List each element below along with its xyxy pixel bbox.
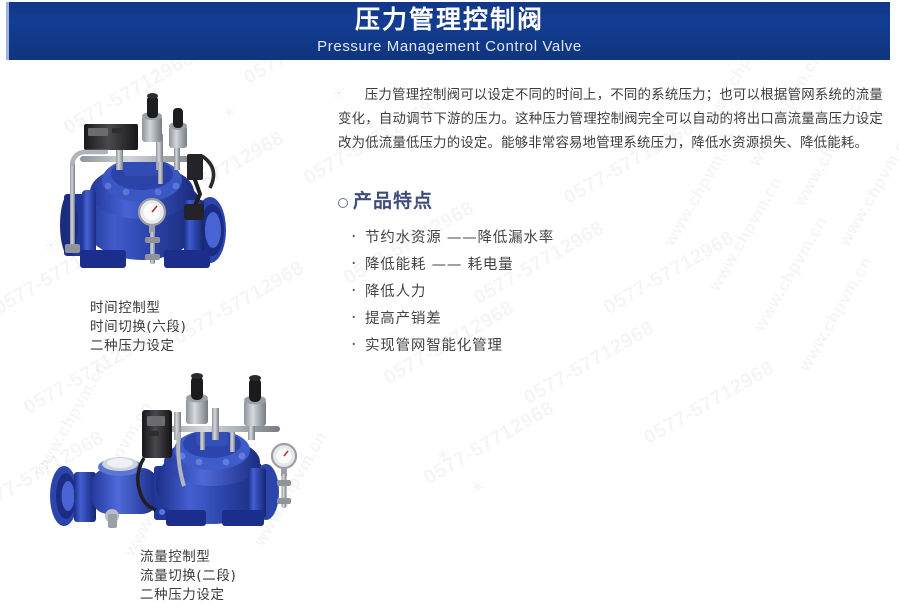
product-features-block: 产品特点 节约水资源 ——降低漏水率 降低能耗 —— 耗电量 降低人力 提高产销… bbox=[338, 186, 883, 360]
feature-list: 节约水资源 ——降低漏水率 降低能耗 —— 耗电量 降低人力 提高产销差 实现管… bbox=[338, 225, 883, 360]
caption-line: 二种压力设定 bbox=[90, 337, 324, 356]
caption-line: 流量控制型 bbox=[140, 548, 336, 567]
content-column: 压力管理控制阀可以设定不同的时间上，不同的系统压力；也可以根据管网系统的流量变化… bbox=[338, 84, 883, 360]
product-brochure-page: 0577-57712968 0577-57712968 0577-5771296… bbox=[0, 0, 899, 610]
features-heading: 产品特点 bbox=[338, 186, 883, 213]
figure-flow-controlled-valve: 流量控制型 流量切换(二段) 二种压力设定 bbox=[16, 368, 336, 605]
intro-paragraph: 压力管理控制阀可以设定不同的时间上，不同的系统压力；也可以根据管网系统的流量变化… bbox=[338, 84, 883, 156]
watermark-star-icon: ✳ bbox=[470, 478, 484, 498]
page-title-cn: 压力管理控制阀 bbox=[355, 7, 544, 33]
caption-line: 时间控制型 bbox=[90, 299, 324, 318]
feature-list-item: 降低人力 bbox=[351, 279, 883, 306]
figure-caption-flow-controlled: 流量控制型 流量切换(二段) 二种压力设定 bbox=[16, 548, 336, 605]
watermark-star-icon: ✳ bbox=[436, 446, 450, 466]
caption-line: 时间切换(六段) bbox=[90, 318, 324, 337]
feature-list-item: 实现管网智能化管理 bbox=[351, 333, 883, 360]
features-heading-label: 产品特点 bbox=[353, 186, 433, 213]
watermark-phone: 0577-57712968 bbox=[640, 357, 778, 450]
valve-illustration-time bbox=[24, 82, 324, 297]
caption-line: 二种压力设定 bbox=[140, 586, 336, 605]
figure-time-controlled-valve: 时间控制型 时间切换(六段) 二种压力设定 bbox=[24, 82, 324, 356]
valve-illustration-flow bbox=[16, 368, 336, 548]
feature-list-item: 降低能耗 —— 耗电量 bbox=[351, 252, 883, 279]
product-photo-flow-controlled bbox=[16, 368, 336, 548]
page-header-banner: 压力管理控制阀 Pressure Management Control Valv… bbox=[6, 2, 890, 60]
feature-list-item: 提高产销差 bbox=[351, 306, 883, 333]
product-photo-time-controlled bbox=[24, 82, 324, 297]
page-title-en: Pressure Management Control Valve bbox=[317, 38, 582, 55]
caption-line: 流量切换(二段) bbox=[140, 567, 336, 586]
feature-list-item: 节约水资源 ——降低漏水率 bbox=[351, 225, 883, 252]
figure-caption-time-controlled: 时间控制型 时间切换(六段) 二种压力设定 bbox=[24, 299, 324, 356]
watermark-phone: 0577-57712968 bbox=[420, 397, 558, 490]
ring-bullet-icon bbox=[338, 198, 348, 208]
